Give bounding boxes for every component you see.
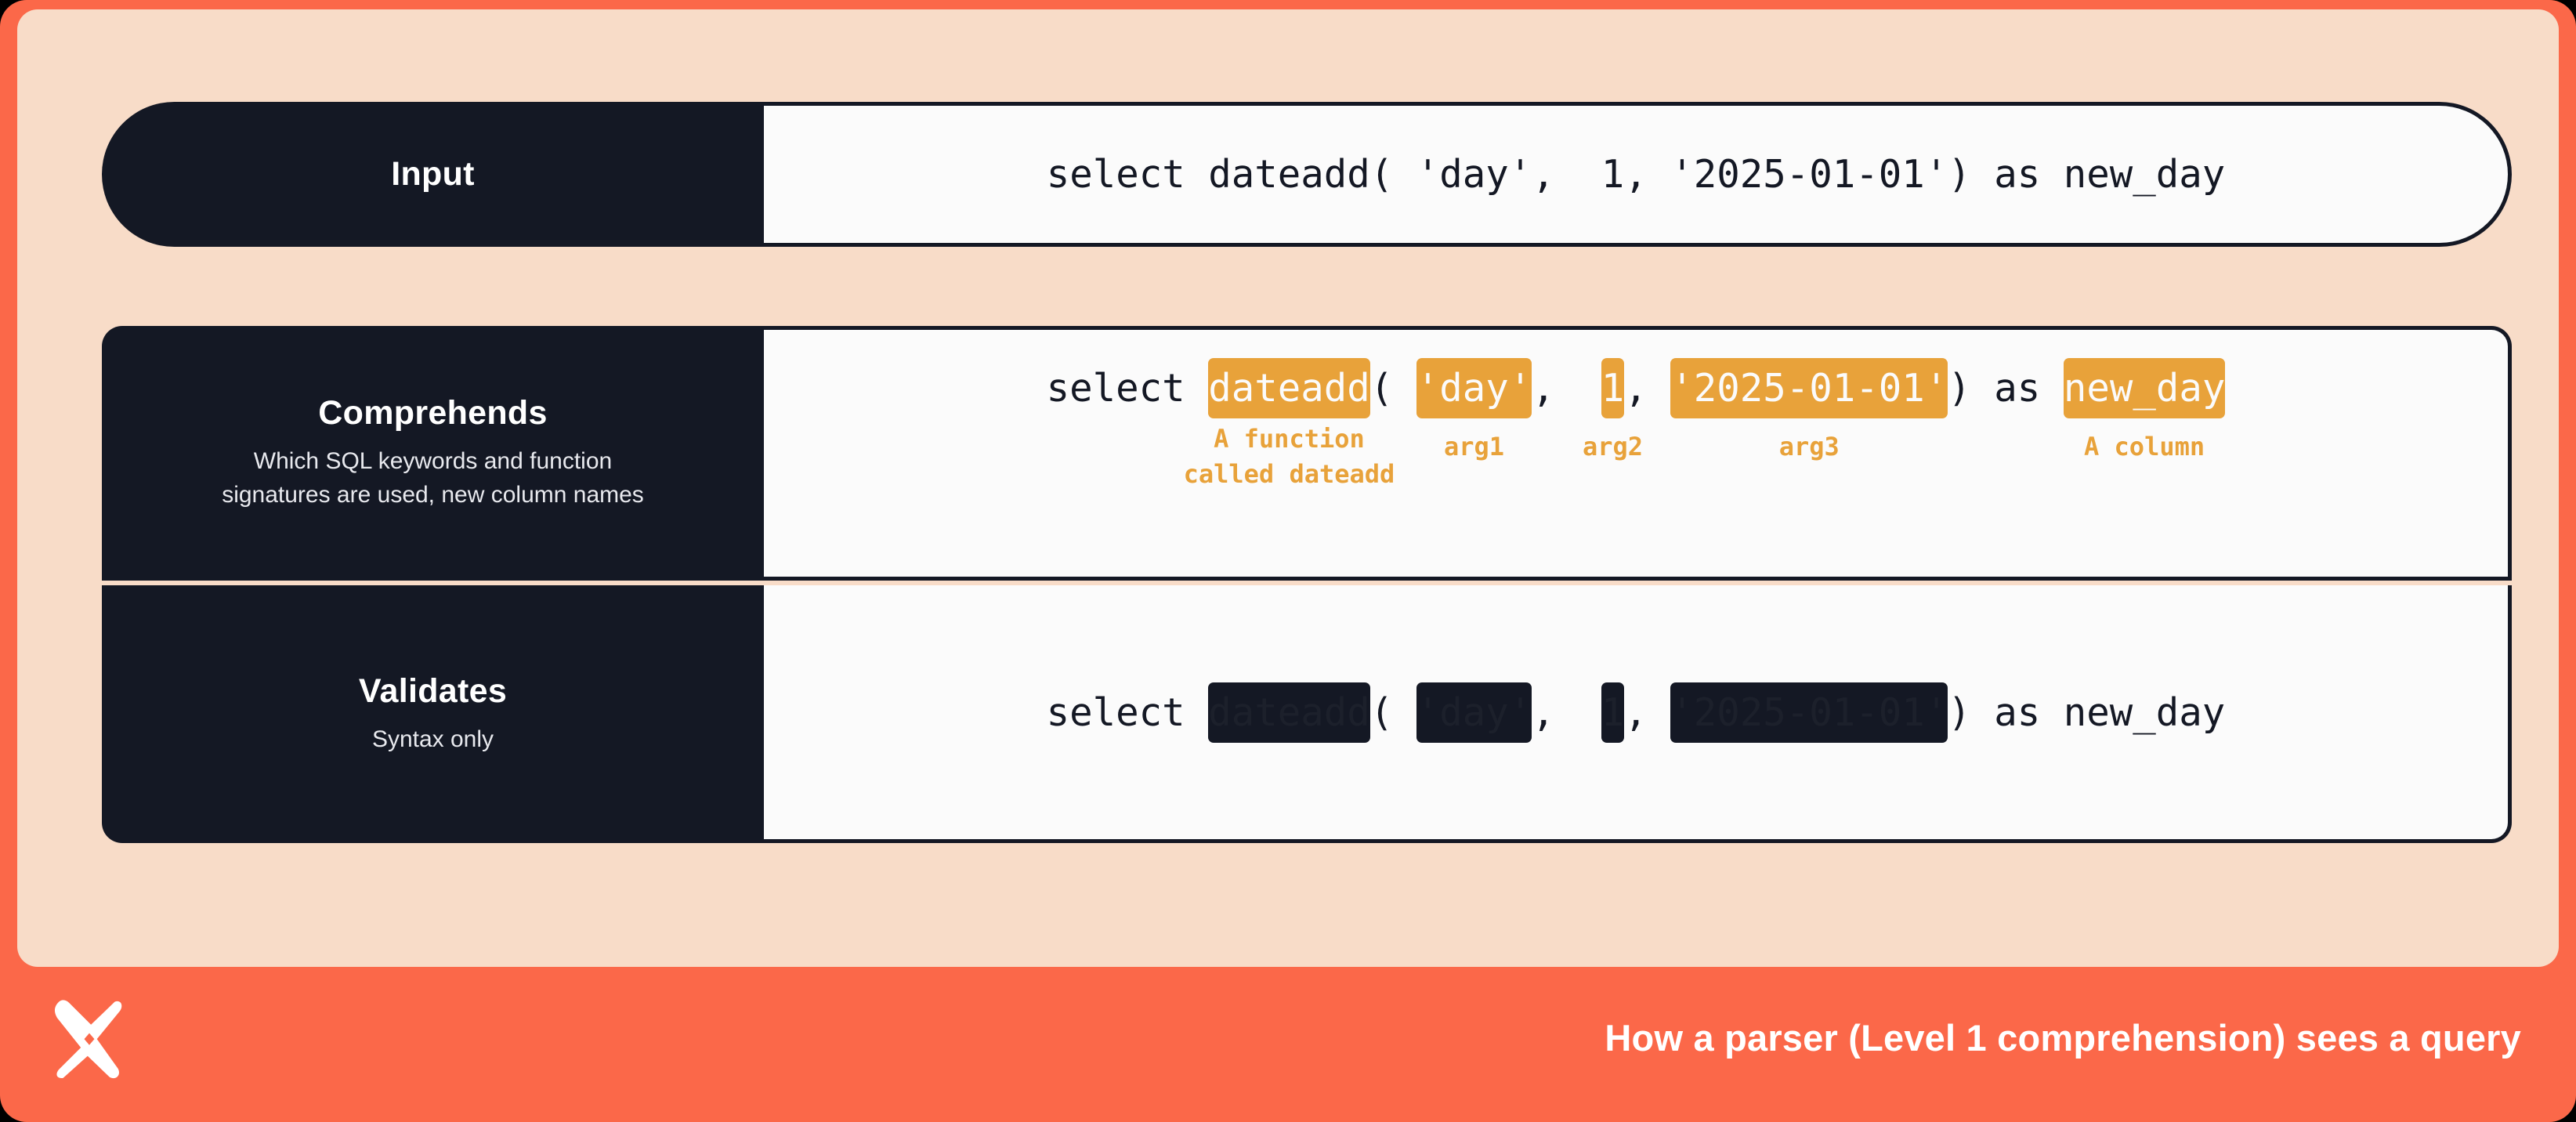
code-token-7: '2025-01-01'	[1670, 682, 1948, 743]
code-token-5: 1	[1601, 358, 1625, 418]
code-token-4: ,	[1532, 366, 1601, 411]
code-token-7: '2025-01-01'	[1670, 358, 1948, 418]
code-token-5: 1	[1601, 682, 1625, 743]
content-panel: Input select dateadd( 'day', 1, '2025-01…	[17, 9, 2559, 967]
validates-code-panel: select dateadd( 'day', 1, '2025-01-01') …	[764, 585, 2512, 843]
comprehends-subtitle-line2: signatures are used, new column names	[222, 482, 644, 508]
code-token-4: ,	[1532, 690, 1601, 735]
annotation-2: arg2	[1583, 429, 1643, 465]
comprehends-title: Comprehends	[318, 394, 547, 433]
annotation-3: arg3	[1779, 429, 1840, 465]
comprehends-subtitle-line1: Which SQL keywords and function	[254, 448, 612, 474]
input-code-panel: select dateadd( 'day', 1, '2025-01-01') …	[764, 102, 2512, 247]
validates-code-center: select dateadd( 'day', 1, '2025-01-01') …	[764, 585, 2508, 839]
validates-code-text: select dateadd( 'day', 1, '2025-01-01') …	[1047, 690, 2226, 735]
code-token-8: ) as	[1948, 366, 2064, 411]
code-token-9: new_day	[2064, 358, 2226, 418]
code-token-2: (	[1370, 690, 1416, 735]
poster-canvas: Input select dateadd( 'day', 1, '2025-01…	[0, 0, 2576, 1122]
comprehends-row: Comprehends Which SQL keywords and funct…	[102, 326, 2512, 581]
input-row-label: Input	[102, 102, 764, 247]
code-token-1: dateadd	[1208, 682, 1370, 743]
code-token-6: ,	[1624, 366, 1670, 411]
input-label-text: Input	[391, 155, 475, 194]
code-token-0: select	[1047, 366, 1209, 411]
comprehends-code-panel: select dateadd( 'day', 1, '2025-01-01') …	[764, 326, 2512, 581]
validates-row: Validates Syntax only select dateadd( 'd…	[102, 585, 2512, 843]
validates-title: Validates	[359, 672, 507, 711]
validates-row-label: Validates Syntax only	[102, 585, 764, 843]
comprehends-row-label: Comprehends Which SQL keywords and funct…	[102, 326, 764, 581]
code-token-6: ,	[1624, 690, 1670, 735]
comprehension-card: Comprehends Which SQL keywords and funct…	[102, 326, 2512, 843]
comprehends-subtitle: Which SQL keywords and function signatur…	[222, 445, 644, 512]
footer-caption: How a parser (Level 1 comprehension) see…	[1605, 1016, 2521, 1059]
x-mark-logo-icon	[47, 995, 132, 1080]
validates-subtitle: Syntax only	[372, 723, 494, 757]
code-token-3: 'day'	[1416, 682, 1532, 743]
code-token-1: dateadd	[1208, 358, 1370, 418]
comprehends-annotations: A function called dateaddarg1arg2arg3A c…	[1047, 422, 2226, 516]
annotation-0: A function called dateadd	[1184, 422, 1395, 493]
comprehends-code-stack: select dateadd( 'day', 1, '2025-01-01') …	[764, 366, 2508, 516]
code-token-3: 'day'	[1416, 358, 1532, 418]
input-code-text: select dateadd( 'day', 1, '2025-01-01') …	[1047, 152, 2226, 197]
comprehends-code-wrap: select dateadd( 'day', 1, '2025-01-01') …	[1047, 366, 2226, 516]
footer-bar: How a parser (Level 1 comprehension) see…	[0, 965, 2576, 1122]
code-token-8: ) as new_day	[1948, 690, 2225, 735]
input-row: Input select dateadd( 'day', 1, '2025-01…	[102, 102, 2512, 247]
annotation-4: A column	[2084, 429, 2205, 465]
comprehends-code-text: select dateadd( 'day', 1, '2025-01-01') …	[1047, 366, 2226, 411]
code-token-0: select	[1047, 690, 1209, 735]
annotation-1: arg1	[1444, 429, 1504, 465]
code-token-2: (	[1370, 366, 1416, 411]
